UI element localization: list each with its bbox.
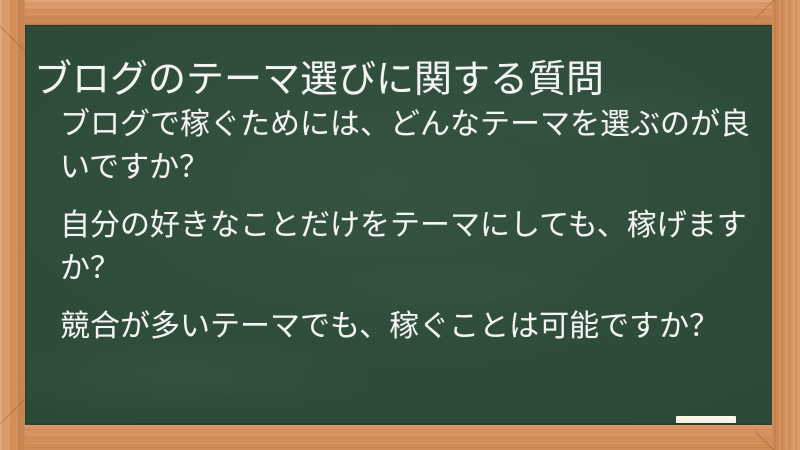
frame-rail-top (0, 0, 800, 25)
question-list: ブログで稼ぐためには、どんなテーマを選ぶのが良いですか？ 自分の好きなことだけを… (60, 104, 760, 349)
chalkboard-slide: ブログのテーマ選びに関する質問 ブログで稼ぐためには、どんなテーマを選ぶのが良い… (0, 0, 800, 450)
frame-rail-bottom (0, 425, 800, 450)
question-item: ブログで稼ぐためには、どんなテーマを選ぶのが良いですか？ (60, 104, 750, 189)
frame-rail-right (772, 0, 800, 450)
frame-rail-left (0, 0, 25, 450)
chalk-stick-icon (676, 416, 736, 425)
chalkboard-surface: ブログのテーマ選びに関する質問 ブログで稼ぐためには、どんなテーマを選ぶのが良い… (25, 25, 772, 425)
slide-title: ブログのテーマ選びに関する質問 (34, 57, 764, 102)
question-item: 自分の好きなことだけをテーマにしても、稼げますか？ (60, 205, 750, 290)
question-item: 競合が多いテーマでも、稼ぐことは可能ですか？ (60, 306, 750, 349)
